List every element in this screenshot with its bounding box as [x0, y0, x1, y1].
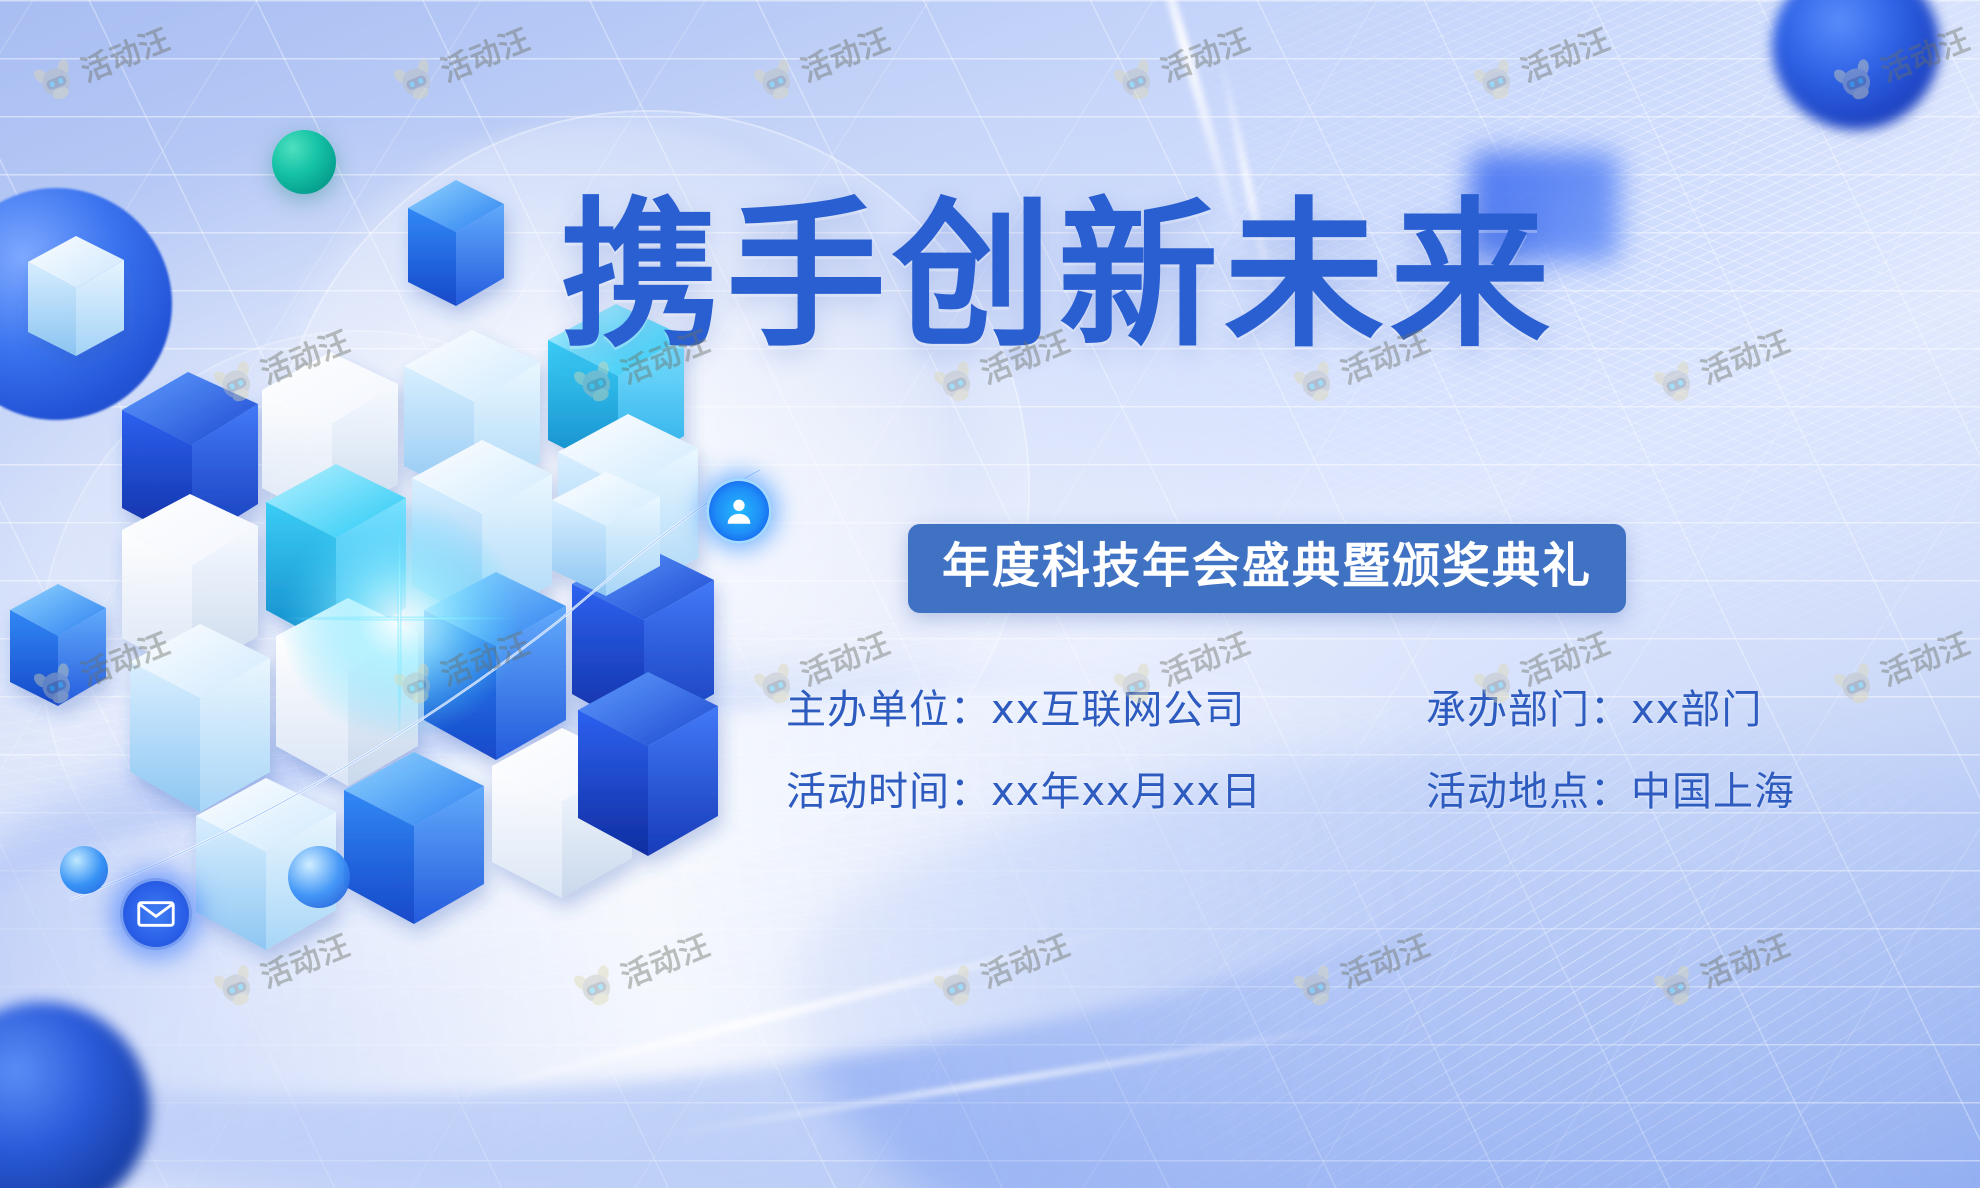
poster-content: 携手创新未来 年度科技年会盛典暨颁奖典礼 主办单位：xx互联网公司 承办部门：x…: [0, 0, 1980, 1188]
info-department: 承办部门：xx部门: [1426, 688, 1906, 732]
subtitle-text: 年度科技年会盛典暨颁奖典礼: [942, 538, 1592, 595]
subtitle-banner: 年度科技年会盛典暨颁奖典礼: [908, 524, 1626, 613]
info-location: 活动地点：中国上海: [1426, 770, 1906, 814]
page-title: 携手创新未来: [560, 196, 1570, 356]
info-datetime: 活动时间：xx年xx月xx日: [786, 770, 1426, 814]
event-info-grid: 主办单位：xx互联网公司 承办部门：xx部门 活动时间：xx年xx月xx日 活动…: [786, 688, 1906, 814]
info-organizer: 主办单位：xx互联网公司: [786, 688, 1426, 732]
poster-canvas: 携手创新未来 年度科技年会盛典暨颁奖典礼 主办单位：xx互联网公司 承办部门：x…: [0, 0, 1980, 1188]
